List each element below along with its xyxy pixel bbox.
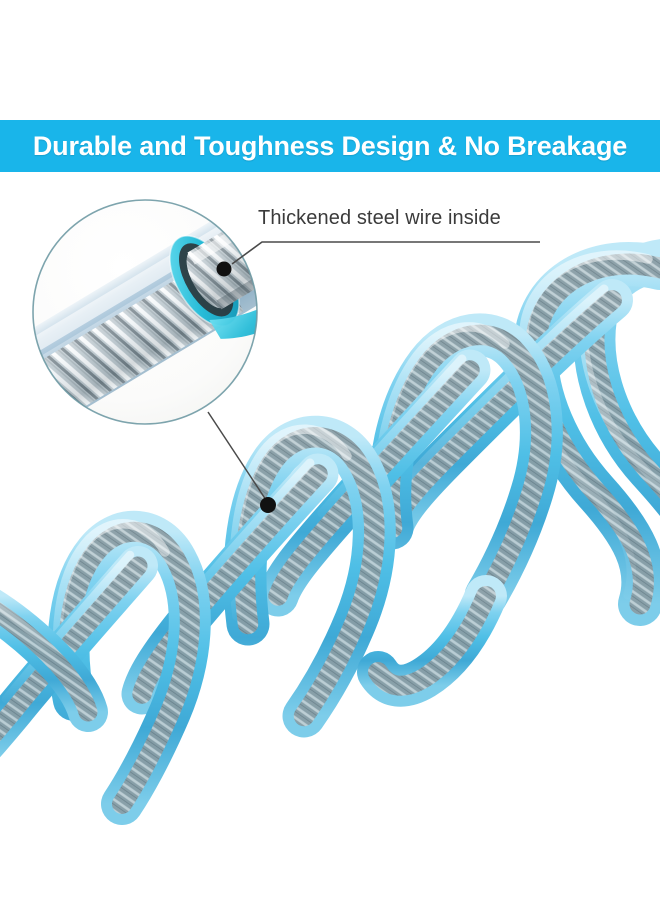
callout-marker-steel-wire (217, 262, 232, 277)
callout-marker-hose (260, 497, 276, 513)
feature-banner: Durable and Toughness Design & No Breaka… (0, 120, 660, 172)
feature-banner-text: Durable and Toughness Design & No Breaka… (33, 131, 627, 162)
product-feature-image: Thickened steel wire inside Durable and … (0, 0, 660, 900)
callout-label: Thickened steel wire inside (258, 207, 501, 230)
